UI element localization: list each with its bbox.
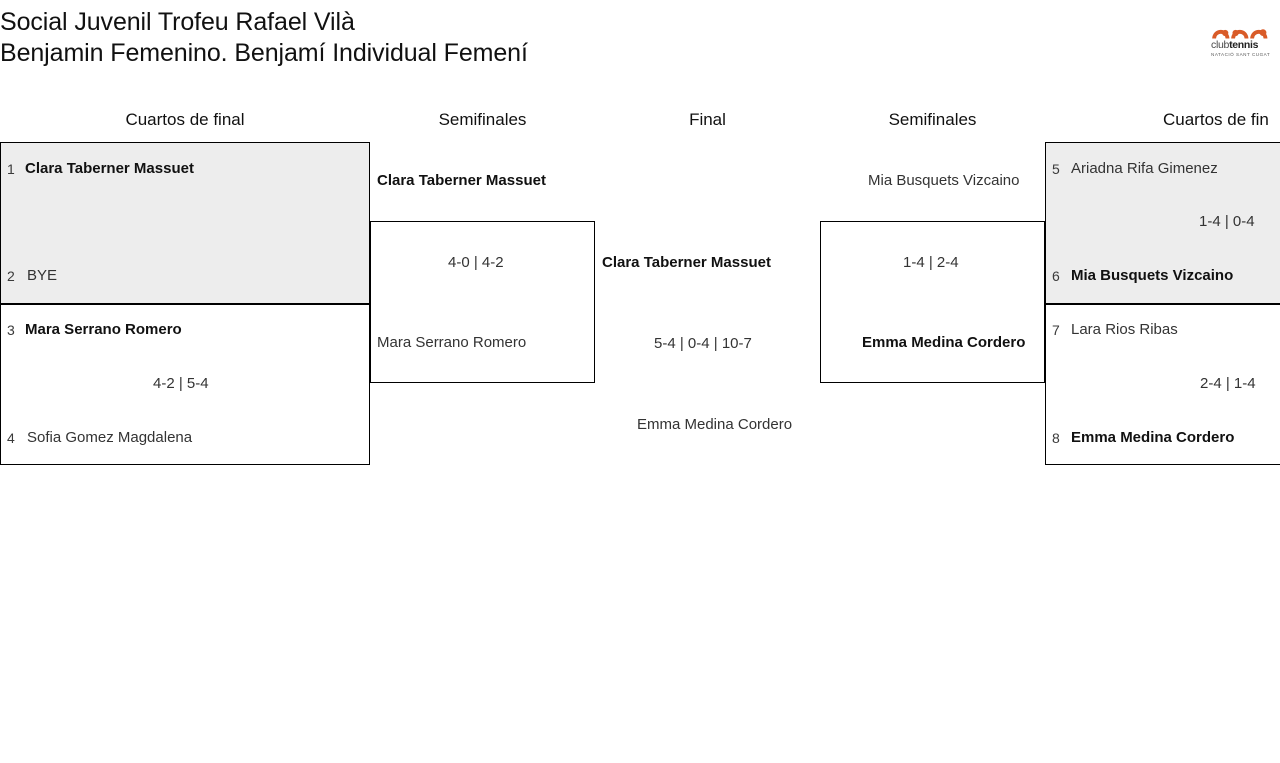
score-sf-right: 1-4 | 2-4 bbox=[903, 253, 959, 273]
player-qf-left-1-top: Clara Taberner Massuet bbox=[25, 159, 194, 179]
match-box-final[interactable] bbox=[595, 221, 820, 383]
player-qf-right-1-bottom: Mia Busquets Vizcaino bbox=[1071, 266, 1233, 286]
seed-qf-left-2-bottom: 4 bbox=[7, 428, 15, 448]
round-header-quarterfinals-right: Cuartos de fin bbox=[1045, 108, 1280, 132]
round-header-final: Final bbox=[595, 108, 820, 132]
round-header-quarterfinals-left: Cuartos de final bbox=[0, 108, 370, 132]
logo-word-club: club bbox=[1211, 39, 1229, 51]
seed-qf-right-1-top: 5 bbox=[1052, 159, 1060, 179]
round-header-semifinals-right: Semifinales bbox=[820, 108, 1045, 132]
player-qf-left-1-bottom: BYE bbox=[27, 266, 57, 286]
player-final-bottom: Emma Medina Cordero bbox=[637, 415, 792, 435]
page-title-line-1: Social Juvenil Trofeu Rafael Vilà bbox=[0, 7, 900, 38]
page-title: Social Juvenil Trofeu Rafael Vilà Benjam… bbox=[0, 7, 900, 69]
seed-qf-right-2-top: 7 bbox=[1052, 320, 1060, 340]
player-sf-right-top: Mia Busquets Vizcaino bbox=[868, 171, 1019, 191]
bracket-page: Social Juvenil Trofeu Rafael Vilà Benjam… bbox=[0, 0, 1280, 763]
logo-word-tennis: tennis bbox=[1229, 39, 1258, 51]
player-qf-left-2-top: Mara Serrano Romero bbox=[25, 320, 182, 340]
seed-qf-left-2-top: 3 bbox=[7, 320, 15, 340]
score-sf-left: 4-0 | 4-2 bbox=[448, 253, 504, 273]
player-sf-right-bottom: Emma Medina Cordero bbox=[862, 333, 1025, 353]
player-qf-right-2-top: Lara Rios Ribas bbox=[1071, 320, 1178, 340]
player-qf-left-2-bottom: Sofia Gomez Magdalena bbox=[27, 428, 192, 448]
page-title-line-2: Benjamin Femenino. Benjamí Individual Fe… bbox=[0, 38, 900, 69]
score-qf-right-2: 2-4 | 1-4 bbox=[1200, 374, 1256, 394]
player-qf-right-2-bottom: Emma Medina Cordero bbox=[1071, 428, 1234, 448]
player-final-top: Clara Taberner Massuet bbox=[602, 253, 771, 273]
seed-qf-left-1-bottom: 2 bbox=[7, 266, 15, 286]
player-sf-left-top: Clara Taberner Massuet bbox=[377, 171, 546, 191]
player-qf-right-1-top: Ariadna Rifa Gimenez bbox=[1071, 159, 1218, 179]
logo-arches-icon bbox=[1211, 22, 1269, 39]
match-box-sf-left[interactable] bbox=[370, 221, 595, 383]
match-box-sf-right[interactable] bbox=[820, 221, 1045, 383]
club-logo: clubtennis NATACIÓ SANT CUGAT bbox=[1211, 22, 1269, 58]
score-final: 5-4 | 0-4 | 10-7 bbox=[654, 334, 752, 354]
seed-qf-left-1-top: 1 bbox=[7, 159, 15, 179]
seed-qf-right-1-bottom: 6 bbox=[1052, 266, 1060, 286]
round-header-semifinals-left: Semifinales bbox=[370, 108, 595, 132]
score-qf-left-2: 4-2 | 5-4 bbox=[153, 374, 209, 394]
logo-wordmark: clubtennis bbox=[1211, 40, 1269, 51]
seed-qf-right-2-bottom: 8 bbox=[1052, 428, 1060, 448]
logo-subtitle: NATACIÓ SANT CUGAT bbox=[1211, 52, 1269, 58]
player-sf-left-bottom: Mara Serrano Romero bbox=[377, 333, 526, 353]
score-qf-right-1: 1-4 | 0-4 bbox=[1199, 212, 1255, 232]
